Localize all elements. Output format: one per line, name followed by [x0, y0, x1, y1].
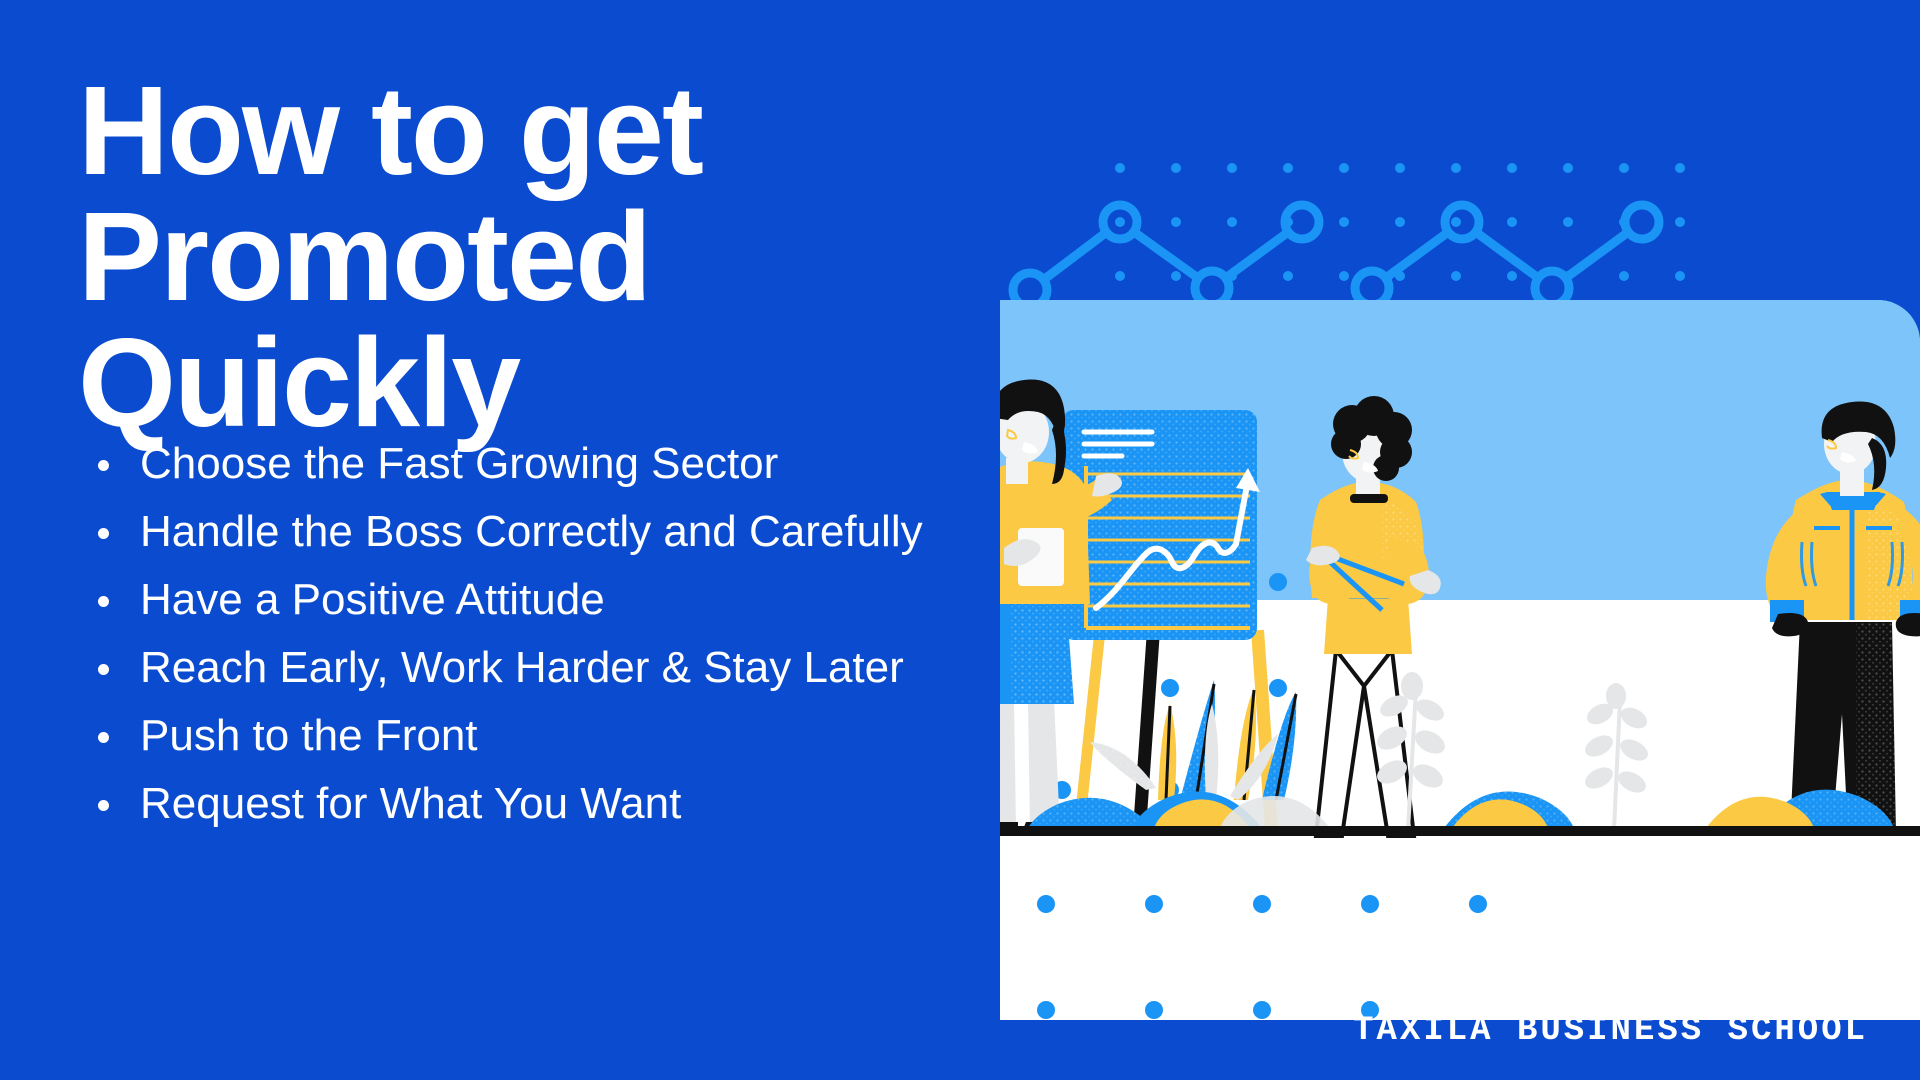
list-item: Choose the Fast Growing Sector: [92, 430, 952, 498]
zigzag-node-circles: [1013, 205, 1659, 307]
bullet-dot-icon: [98, 800, 109, 811]
list-item-label: Reach Early, Work Harder & Stay Later: [140, 643, 904, 692]
list-item-label: Have a Positive Attitude: [140, 575, 605, 624]
bullet-dot-icon: [98, 664, 109, 675]
bullet-dot-icon: [98, 596, 109, 607]
bullet-dot-icon: [98, 528, 109, 539]
bullet-dot-icon: [98, 460, 109, 471]
list-item-label: Choose the Fast Growing Sector: [140, 439, 778, 488]
list-item-label: Request for What You Want: [140, 779, 681, 828]
ground-line: [1000, 826, 1920, 836]
brand-wordmark: TAXILA BUSINESS SCHOOL: [1353, 1012, 1868, 1050]
slide-canvas: How to get Promoted Quickly Choose the F…: [0, 0, 1920, 1080]
bullet-dot-icon: [98, 732, 109, 743]
page-title: How to get Promoted Quickly: [78, 68, 1078, 446]
list-item: Reach Early, Work Harder & Stay Later: [92, 634, 952, 702]
presentation-board: [1062, 410, 1260, 640]
list-item: Request for What You Want: [92, 770, 952, 838]
list-item: Have a Positive Attitude: [92, 566, 952, 634]
list-item: Push to the Front: [92, 702, 952, 770]
list-item-label: Push to the Front: [140, 711, 478, 760]
bullet-list: Choose the Fast Growing Sector Handle th…: [92, 430, 952, 838]
list-item-label: Handle the Boss Correctly and Carefully: [140, 507, 923, 556]
list-item: Handle the Boss Correctly and Carefully: [92, 498, 952, 566]
business-presentation-illustration: [1000, 0, 1920, 1080]
